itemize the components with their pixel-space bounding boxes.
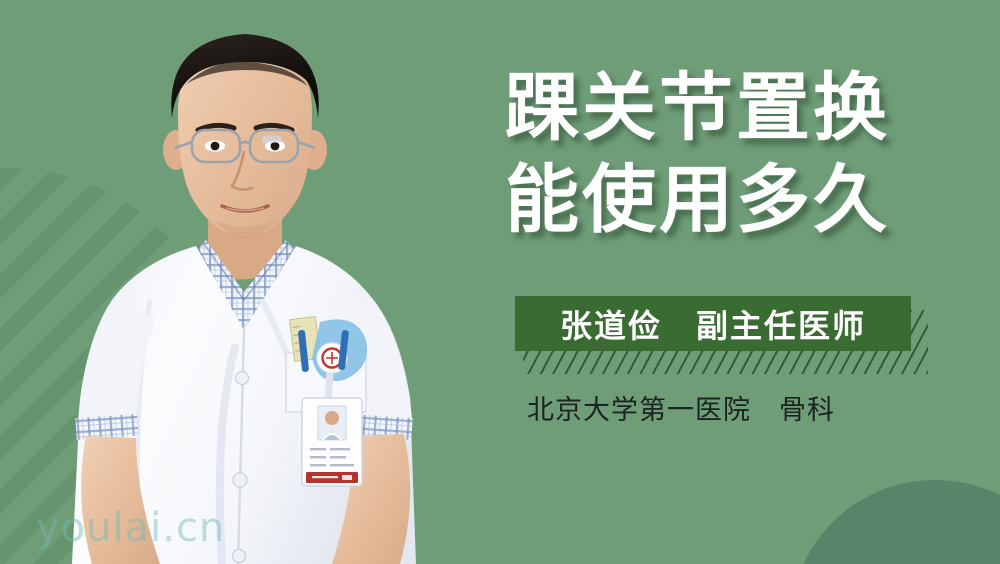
video-cover-canvas: youlai.cn 踝关节置换 能使用多久 张道俭 副主任医师 北京大学第一医院… [0,0,1000,564]
name-bar-wrapper: 张道俭 副主任医师 [505,296,923,374]
headline-line-2: 能使用多久 [505,154,975,246]
striped-circle-decoration [0,168,228,564]
headline: 踝关节置换 能使用多久 [505,62,975,246]
hospital-and-department: 北京大学第一医院 骨科 [527,388,975,427]
watermark: youlai.cn [36,505,225,551]
doctor-portrait [0,0,470,564]
name-bar: 张道俭 副主任医师 [515,296,911,351]
dark-circle-decoration [790,480,1000,564]
doctor-name-and-title: 张道俭 副主任医师 [560,301,866,347]
doctor-credit: 张道俭 副主任医师 北京大学第一医院 骨科 [505,296,975,427]
headline-line-1: 踝关节置换 [505,62,975,154]
